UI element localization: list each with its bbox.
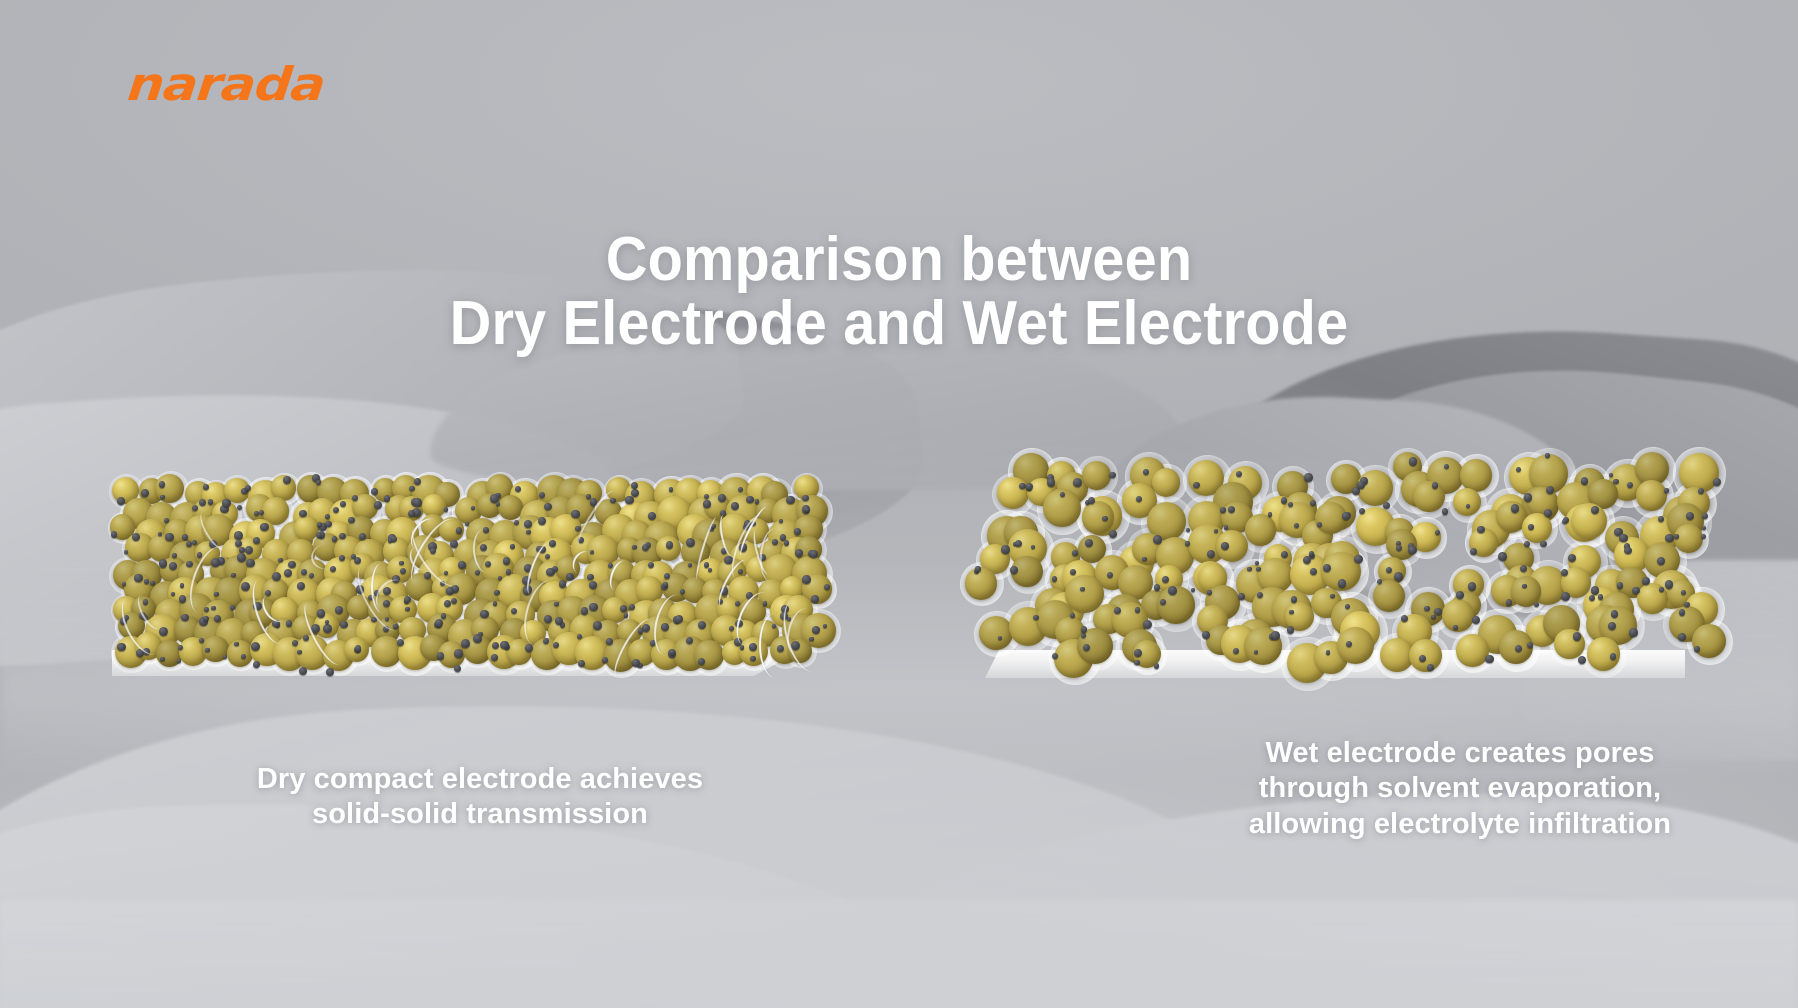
conductive-carbon-particle <box>1162 576 1169 583</box>
conductive-carbon-particle <box>359 533 366 540</box>
conductive-carbon-particle <box>1678 633 1686 641</box>
conductive-carbon-particle <box>794 528 801 535</box>
conductive-carbon-particle <box>1684 602 1690 608</box>
dry-electrode-model <box>112 478 812 656</box>
conductive-carbon-particle <box>150 581 154 585</box>
conductive-carbon-particle <box>1220 507 1226 513</box>
conductive-carbon-particle <box>1431 615 1436 620</box>
conductive-carbon-particle <box>500 641 508 649</box>
conductive-carbon-particle <box>602 657 608 663</box>
conductive-carbon-particle <box>1134 649 1142 657</box>
conductive-carbon-particle <box>1698 488 1704 494</box>
conductive-carbon-particle <box>1472 616 1480 624</box>
conductive-carbon-particle <box>117 643 125 651</box>
conductive-carbon-particle <box>1136 496 1142 502</box>
conductive-carbon-particle <box>738 487 743 492</box>
conductive-carbon-particle <box>203 616 208 621</box>
active-material-particle <box>997 477 1028 508</box>
active-material-particle <box>1442 599 1474 631</box>
conductive-carbon-particle <box>1236 471 1242 477</box>
conductive-carbon-particle <box>648 512 656 520</box>
conductive-carbon-particle <box>703 500 710 507</box>
conductive-carbon-particle <box>214 615 221 622</box>
conductive-carbon-particle <box>1427 664 1434 671</box>
conductive-carbon-particle <box>480 610 488 618</box>
conductive-carbon-particle <box>1540 541 1546 547</box>
page-title: Comparison between Dry Electrode and Wet… <box>63 228 1735 356</box>
conductive-carbon-particle <box>237 553 246 562</box>
conductive-carbon-particle <box>1591 586 1599 594</box>
conductive-carbon-particle <box>253 661 260 668</box>
conductive-carbon-particle <box>629 604 635 610</box>
active-material-particle <box>1674 524 1702 552</box>
conductive-carbon-particle <box>1401 615 1408 622</box>
conductive-carbon-particle <box>1524 541 1530 547</box>
conductive-carbon-particle <box>186 561 193 568</box>
active-material-particle <box>1152 468 1181 497</box>
active-material-particle <box>1413 481 1445 513</box>
conductive-carbon-particle <box>1072 550 1078 556</box>
conductive-carbon-particle <box>171 592 175 596</box>
conductive-carbon-particle <box>735 601 740 606</box>
conductive-carbon-particle <box>642 544 649 551</box>
conductive-carbon-particle <box>1255 561 1259 565</box>
conductive-carbon-particle <box>297 582 305 590</box>
active-material-particle <box>979 616 1013 650</box>
conductive-carbon-particle <box>316 480 321 485</box>
conductive-carbon-particle <box>1070 569 1076 575</box>
conductive-carbon-particle <box>1546 486 1554 494</box>
conductive-carbon-particle <box>824 584 830 590</box>
conductive-carbon-particle <box>975 566 980 571</box>
active-material-particle <box>1460 459 1492 491</box>
conductive-carbon-particle <box>1281 497 1287 503</box>
conductive-carbon-particle <box>1357 481 1365 489</box>
conductive-carbon-particle <box>1511 504 1520 513</box>
dry-caption-line-2: solid-solid transmission <box>90 797 870 832</box>
conductive-carbon-particle <box>491 654 498 661</box>
conductive-carbon-particle <box>1665 580 1674 589</box>
conductive-carbon-particle <box>1154 584 1160 590</box>
conductive-carbon-particle <box>663 582 668 587</box>
active-material-particle <box>1082 501 1114 533</box>
conductive-carbon-particle <box>664 573 670 579</box>
conductive-carbon-particle <box>1081 626 1087 632</box>
conductive-carbon-particle <box>1185 541 1190 546</box>
conductive-carbon-particle <box>1442 508 1449 515</box>
conductive-carbon-particle <box>278 558 282 562</box>
conductive-carbon-particle <box>539 492 545 498</box>
conductive-carbon-particle <box>1383 502 1390 509</box>
conductive-carbon-particle <box>1516 467 1521 472</box>
conductive-carbon-particle <box>1001 545 1010 554</box>
conductive-carbon-particle <box>779 519 783 523</box>
conductive-carbon-particle <box>1694 646 1700 652</box>
conductive-carbon-particle <box>1060 492 1065 497</box>
conductive-carbon-particle <box>1506 599 1513 606</box>
conductive-carbon-particle <box>1257 592 1263 598</box>
conductive-carbon-particle <box>524 520 532 528</box>
conductive-carbon-particle <box>473 634 482 643</box>
conductive-carbon-particle <box>299 667 307 675</box>
conductive-carbon-particle <box>1143 469 1149 475</box>
conductive-carbon-particle <box>222 499 230 507</box>
conductive-carbon-particle <box>454 649 463 658</box>
conductive-carbon-particle <box>1346 641 1352 647</box>
conductive-carbon-particle <box>1134 660 1140 666</box>
conductive-carbon-particle <box>182 534 188 540</box>
conductive-carbon-particle <box>805 508 809 512</box>
conductive-carbon-particle <box>1659 587 1663 591</box>
conductive-carbon-particle <box>1702 513 1708 519</box>
conductive-carbon-particle <box>575 526 580 531</box>
conductive-carbon-particle <box>299 510 307 518</box>
conductive-carbon-particle <box>648 562 654 568</box>
conductive-carbon-particle <box>326 668 334 676</box>
conductive-carbon-particle <box>409 486 415 492</box>
conductive-carbon-particle <box>1114 607 1121 614</box>
slide-canvas: narada Comparison between Dry Electrode … <box>0 0 1798 1008</box>
conductive-carbon-particle <box>1107 572 1113 578</box>
conductive-carbon-particle <box>1589 595 1595 601</box>
conductive-carbon-particle <box>144 579 149 584</box>
conductive-carbon-particle <box>1477 526 1485 534</box>
conductive-carbon-particle <box>1135 607 1140 612</box>
conductive-carbon-particle <box>1102 516 1108 522</box>
dry-electrode-caption: Dry compact electrode achieves solid-sol… <box>90 762 870 833</box>
wet-caption-line-1: Wet electrode creates pores <box>1060 736 1798 771</box>
dry-caption-line-1: Dry compact electrode achieves <box>90 762 870 797</box>
conductive-carbon-particle <box>451 598 457 604</box>
conductive-carbon-particle <box>606 638 613 645</box>
conductive-carbon-particle <box>134 574 142 582</box>
conductive-carbon-particle <box>1287 626 1295 634</box>
conductive-carbon-particle <box>111 531 117 537</box>
conductive-carbon-particle <box>1330 594 1334 598</box>
conductive-carbon-particle <box>786 496 794 504</box>
conductive-carbon-particle <box>1664 488 1668 492</box>
conductive-carbon-particle <box>1047 478 1055 486</box>
conductive-carbon-particle <box>181 614 189 622</box>
conductive-carbon-particle <box>1304 473 1312 481</box>
conductive-carbon-particle <box>538 517 546 525</box>
conductive-carbon-particle <box>437 652 445 660</box>
conductive-carbon-particle <box>1394 572 1403 581</box>
conductive-carbon-particle <box>301 569 307 575</box>
conductive-carbon-particle <box>1221 542 1229 550</box>
wet-caption-line-2: through solvent evaporation, <box>1060 771 1798 806</box>
conductive-carbon-particle <box>384 495 391 502</box>
conductive-carbon-particle <box>1052 576 1058 582</box>
conductive-carbon-particle <box>1629 628 1637 636</box>
conductive-carbon-particle <box>234 642 238 646</box>
conductive-carbon-particle <box>1019 483 1025 489</box>
conductive-carbon-particle <box>444 507 449 512</box>
conductive-carbon-particle <box>203 484 209 490</box>
conductive-carbon-particle <box>1619 534 1627 542</box>
active-material-particle <box>1522 513 1552 543</box>
conductive-carbon-particle <box>511 608 517 614</box>
conductive-carbon-particle <box>260 523 268 531</box>
conductive-carbon-particle <box>316 532 322 538</box>
active-material-particle <box>1245 514 1277 546</box>
conductive-carbon-particle <box>1026 483 1032 489</box>
conductive-carbon-particle <box>160 495 164 499</box>
conductive-carbon-particle <box>1468 582 1476 590</box>
conductive-carbon-particle <box>750 656 755 661</box>
conductive-carbon-particle <box>1359 508 1365 514</box>
conductive-carbon-particle <box>165 533 174 542</box>
conductive-carbon-particle <box>288 561 296 569</box>
conductive-carbon-particle <box>237 505 243 511</box>
conductive-carbon-particle <box>1528 524 1533 529</box>
conductive-carbon-particle <box>1224 525 1228 529</box>
conductive-carbon-particle <box>259 510 264 515</box>
conductive-carbon-particle <box>388 538 392 542</box>
conductive-carbon-particle <box>208 499 213 504</box>
conductive-carbon-particle <box>1207 590 1211 594</box>
conductive-carbon-particle <box>292 640 298 646</box>
conductive-carbon-particle <box>1080 587 1085 592</box>
conductive-carbon-particle <box>686 538 695 547</box>
conductive-carbon-particle <box>1674 534 1679 539</box>
conductive-carbon-particle <box>755 499 759 503</box>
conductive-carbon-particle <box>587 574 594 581</box>
conductive-carbon-particle <box>371 488 378 495</box>
conductive-carbon-particle <box>1435 530 1440 535</box>
conductive-carbon-particle <box>1143 620 1152 629</box>
conductive-carbon-particle <box>1498 552 1506 560</box>
conductive-carbon-particle <box>515 486 521 492</box>
active-material-particle <box>1409 639 1442 672</box>
conductive-carbon-particle <box>1342 512 1350 520</box>
conductive-carbon-particle <box>1545 453 1550 458</box>
conductive-carbon-particle <box>1191 588 1195 592</box>
active-material-particle <box>1456 634 1488 666</box>
conductive-carbon-particle <box>1168 586 1177 595</box>
conductive-carbon-particle <box>413 498 422 507</box>
wet-caption-line-3: allowing electrolyte infiltration <box>1060 807 1798 842</box>
conductive-carbon-particle <box>802 495 808 501</box>
conductive-carbon-particle <box>1317 522 1322 527</box>
conductive-carbon-particle <box>625 496 633 504</box>
conductive-carbon-particle <box>172 553 177 558</box>
conductive-carbon-particle <box>1456 591 1464 599</box>
conductive-carbon-particle <box>802 575 810 583</box>
active-material-particle <box>1373 580 1405 612</box>
narada-logo[interactable]: narada <box>125 57 327 111</box>
conductive-carbon-particle <box>117 497 125 505</box>
conductive-carbon-particle <box>1214 529 1218 533</box>
wet-electrode-model <box>978 462 1698 658</box>
page-title-line-1: Comparison between <box>606 225 1192 294</box>
conductive-carbon-particle <box>566 573 574 581</box>
conductive-carbon-particle <box>1408 546 1417 555</box>
conductive-carbon-particle <box>510 544 514 548</box>
conductive-carbon-particle <box>1238 593 1245 600</box>
conductive-carbon-particle <box>1052 653 1058 659</box>
conductive-carbon-particle <box>230 605 235 610</box>
conductive-carbon-particle <box>454 665 461 672</box>
conductive-carbon-particle <box>1613 479 1619 485</box>
active-material-particle <box>1082 461 1112 491</box>
conductive-carbon-particle <box>1085 539 1093 547</box>
conductive-carbon-particle <box>666 541 674 549</box>
conductive-carbon-particle <box>698 621 706 629</box>
conductive-carbon-particle <box>231 573 235 577</box>
conductive-carbon-particle <box>1033 615 1038 620</box>
conductive-carbon-particle <box>586 494 591 499</box>
conductive-carbon-particle <box>1561 569 1568 576</box>
active-material-particle <box>965 567 998 600</box>
conductive-carbon-particle <box>1534 602 1539 607</box>
conductive-carbon-particle <box>1658 516 1664 522</box>
conductive-carbon-particle <box>245 546 253 554</box>
conductive-carbon-particle <box>1524 493 1533 502</box>
conductive-carbon-particle <box>461 639 470 648</box>
conductive-carbon-particle <box>1485 655 1494 664</box>
conductive-carbon-particle <box>1424 606 1430 612</box>
conductive-carbon-particle <box>494 590 499 595</box>
conductive-carbon-particle <box>348 517 354 523</box>
conductive-carbon-particle <box>544 503 551 510</box>
conductive-carbon-particle <box>251 642 260 651</box>
conductive-carbon-particle <box>1561 592 1570 601</box>
active-material-particle <box>1337 627 1374 664</box>
conductive-carbon-particle <box>391 536 397 542</box>
conductive-carbon-particle <box>1608 622 1616 630</box>
conductive-carbon-particle <box>335 606 343 614</box>
conductive-carbon-particle <box>1031 545 1035 549</box>
conductive-carbon-particle <box>1081 633 1086 638</box>
conductive-carbon-particle <box>1657 557 1665 565</box>
conductive-carbon-particle <box>1453 625 1457 629</box>
conductive-carbon-particle <box>441 613 446 618</box>
conductive-carbon-particle <box>1271 631 1280 640</box>
conductive-carbon-particle <box>1310 500 1316 506</box>
conductive-carbon-particle <box>141 489 149 497</box>
wet-electrode-caption: Wet electrode creates pores through solv… <box>1060 736 1798 842</box>
conductive-carbon-particle <box>823 624 827 628</box>
conductive-carbon-particle <box>199 638 204 643</box>
conductive-carbon-particle <box>1522 584 1526 588</box>
conductive-carbon-particle <box>309 573 314 578</box>
conductive-carbon-particle <box>325 514 330 519</box>
conductive-carbon-particle <box>1581 477 1588 484</box>
conductive-carbon-particle <box>1520 565 1527 572</box>
conductive-carbon-particle <box>1193 482 1200 489</box>
page-title-line-2: Dry Electrode and Wet Electrode <box>63 292 1735 356</box>
conductive-carbon-particle <box>620 605 627 612</box>
conductive-carbon-particle <box>159 559 167 567</box>
conductive-carbon-particle <box>680 589 685 594</box>
conductive-carbon-particle <box>589 603 597 611</box>
conductive-carbon-particle <box>1338 579 1347 588</box>
conductive-carbon-particle <box>458 561 466 569</box>
conductive-carbon-particle <box>1354 555 1362 563</box>
conductive-carbon-particle <box>234 531 243 540</box>
conductive-carbon-particle <box>624 613 628 617</box>
conductive-carbon-particle <box>246 559 255 568</box>
conductive-carbon-particle <box>1578 656 1586 664</box>
conductive-carbon-particle <box>1617 582 1624 589</box>
conductive-carbon-particle <box>205 648 210 653</box>
conductive-carbon-particle <box>1632 587 1640 595</box>
conductive-carbon-particle <box>526 530 530 534</box>
conductive-carbon-particle <box>593 621 602 630</box>
conductive-carbon-particle <box>632 545 636 549</box>
conductive-carbon-particle <box>186 541 192 547</box>
conductive-carbon-particle <box>1713 478 1721 486</box>
conductive-carbon-particle <box>795 549 803 557</box>
conductive-carbon-particle <box>239 547 244 552</box>
active-material-particle <box>1692 624 1726 658</box>
